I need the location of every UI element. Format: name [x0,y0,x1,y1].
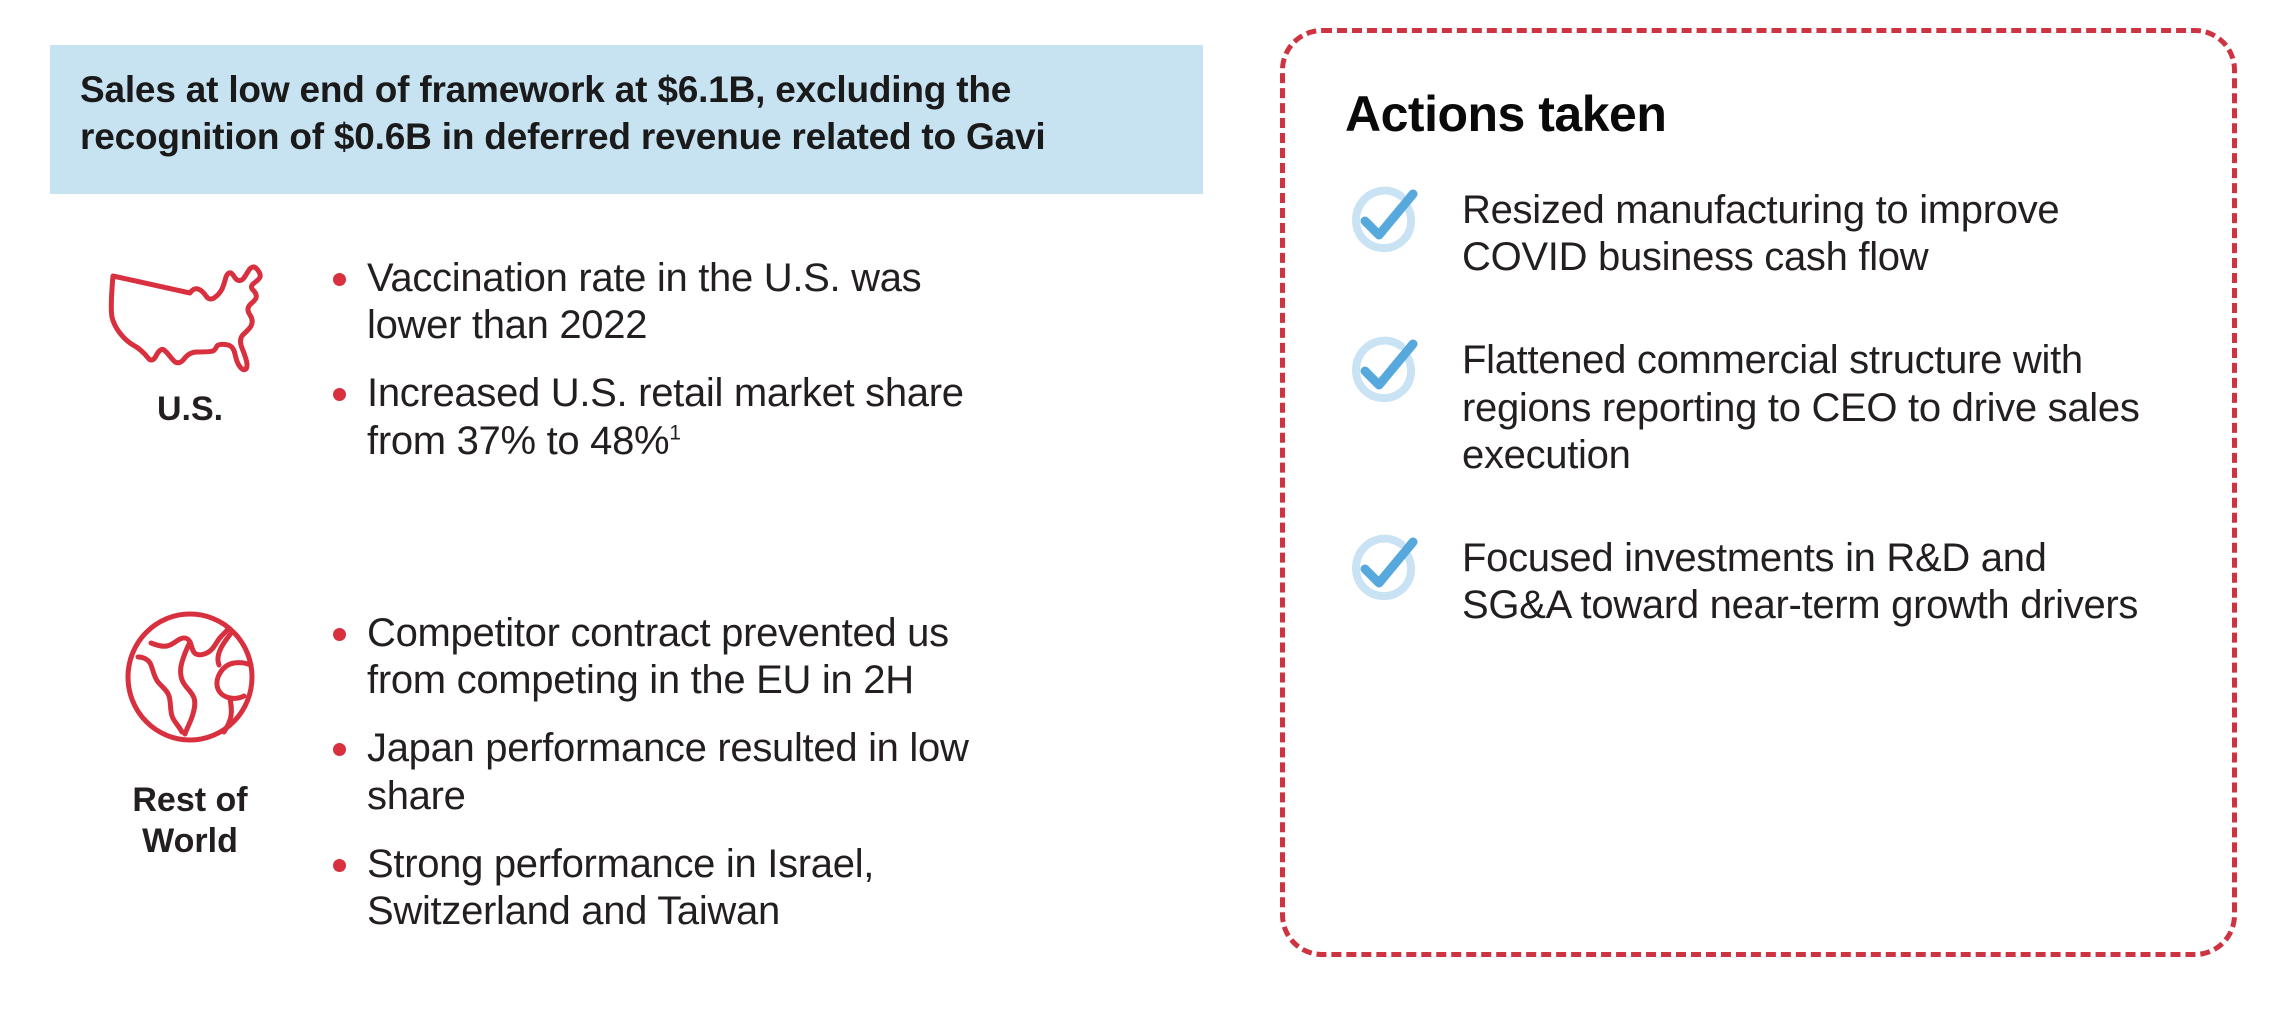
region-icon-column-us: U.S. [60,255,320,430]
bullet-dot-icon [333,273,346,286]
headline-banner: Sales at low end of framework at $6.1B, … [50,45,1203,194]
us-map-icon [101,255,279,375]
bullet-item: Competitor contract prevented us from co… [320,610,1020,704]
bullet-text: Increased U.S. retail market share from … [367,371,964,462]
bullet-dot-icon [333,743,346,756]
region-block-us: U.S. Vaccination rate in the U.S. was lo… [60,255,1020,465]
bullet-text: Strong performance in Israel, Switzerlan… [367,842,874,933]
action-item: Flattened commercial structure with regi… [1343,337,2192,479]
region-label-us: U.S. [157,389,223,430]
action-item-text: Resized manufacturing to improve COVID b… [1462,187,2162,281]
bullet-list-rest-of-world: Competitor contract prevented us from co… [320,610,1020,935]
bullet-text: Competitor contract prevented us from co… [367,611,949,702]
bullet-text: Vaccination rate in the U.S. was lower t… [367,256,921,347]
headline-text: Sales at low end of framework at $6.1B, … [80,67,1175,160]
actions-panel-title: Actions taken [1345,85,2192,143]
bullet-item: Japan performance resulted in low share [320,725,1020,819]
region-block-rest-of-world: Rest ofWorld Competitor contract prevent… [60,610,1020,935]
action-item: Resized manufacturing to improve COVID b… [1343,187,2192,281]
region-label-rest-of-world: Rest ofWorld [132,780,247,863]
bullet-footnote-marker: 1 [669,421,680,444]
bullet-list-us: Vaccination rate in the U.S. was lower t… [320,255,1020,465]
action-item: Focused investments in R&D and SG&A towa… [1343,535,2192,629]
bullet-dot-icon [333,388,346,401]
check-circle-icon [1343,527,1427,611]
bullet-text: Japan performance resulted in low share [367,726,969,817]
bullet-item: Vaccination rate in the U.S. was lower t… [320,255,1020,349]
left-column: Sales at low end of framework at $6.1B, … [0,0,1240,1026]
bullet-item: Strong performance in Israel, Switzerlan… [320,841,1020,935]
bullet-dot-icon [333,628,346,641]
check-circle-icon [1343,329,1427,413]
actions-taken-panel: Actions taken Resized manufacturing to i… [1280,28,2237,957]
bullet-item: Increased U.S. retail market share from … [320,370,1020,464]
actions-list: Resized manufacturing to improve COVID b… [1343,187,2192,629]
region-icon-column-rest-of-world: Rest ofWorld [60,610,320,863]
globe-icon [124,610,256,744]
bullet-dot-icon [333,859,346,872]
check-circle-icon [1343,179,1427,263]
action-item-text: Flattened commercial structure with regi… [1462,337,2162,479]
action-item-text: Focused investments in R&D and SG&A towa… [1462,535,2162,629]
